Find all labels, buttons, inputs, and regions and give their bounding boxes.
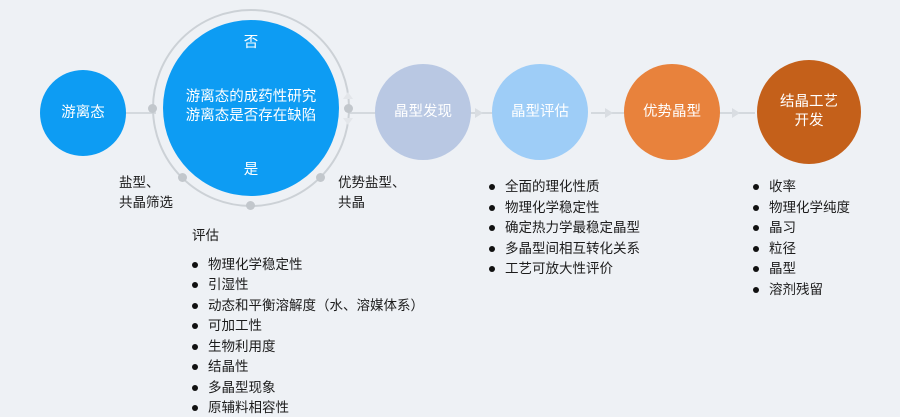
list-item: 确定热力学最稳定晶型 — [489, 218, 640, 239]
list-item: 生物利用度 — [192, 337, 424, 358]
list-item-label: 物理化学稳定性 — [505, 200, 600, 215]
list-item-label: 晶习 — [769, 220, 796, 235]
list-item: 结晶性 — [192, 357, 424, 378]
ring-handle-right[interactable] — [344, 104, 353, 113]
bullet-dot-icon — [753, 184, 759, 190]
ring-handle-bottom-left[interactable] — [178, 173, 187, 182]
list-item: 工艺可放大性评价 — [489, 259, 640, 280]
list-item: 晶习 — [753, 218, 850, 239]
list-item: 引湿性 — [192, 275, 424, 296]
bullet-dot-icon — [192, 303, 198, 309]
list-item-label: 生物利用度 — [208, 339, 276, 354]
node-free-form[interactable]: 游离态 — [40, 70, 126, 156]
list-item: 物理化学稳定性 — [489, 198, 640, 219]
list-item-label: 物理化学稳定性 — [208, 257, 303, 272]
node-free-form-label: 游离态 — [61, 104, 105, 123]
list-crystallization-process-items: 收率 物理化学纯度 晶习 粒径 晶型 溶剂残留 — [753, 177, 850, 300]
list-crystallization-process: 收率 物理化学纯度 晶习 粒径 晶型 溶剂残留 — [753, 177, 850, 300]
list-item-label: 物理化学纯度 — [769, 200, 850, 215]
connector-arrow-4-icon — [605, 108, 613, 118]
list-item: 粒径 — [753, 239, 850, 260]
list-item-label: 收率 — [769, 179, 796, 194]
node-crystal-form-discovery-label: 晶型发现 — [394, 103, 452, 122]
bullet-dot-icon — [489, 246, 495, 252]
node-preferred-crystal-form[interactable]: 优势晶型 — [624, 64, 720, 160]
node-druggability-study-label: 游离态的成药性研究 游离态是否存在缺陷 — [186, 88, 317, 125]
list-evaluation-title: 评估 — [192, 226, 424, 246]
list-item: 溶剂残留 — [753, 280, 850, 301]
list-item-label: 结晶性 — [208, 359, 249, 374]
bullet-dot-icon — [192, 344, 198, 350]
list-item-label: 全面的理化性质 — [505, 179, 600, 194]
list-item: 晶型 — [753, 259, 850, 280]
list-item-label: 工艺可放大性评价 — [505, 261, 613, 276]
connector-arrow-5-icon — [732, 108, 740, 118]
list-item: 收率 — [753, 177, 850, 198]
bullet-dot-icon — [192, 323, 198, 329]
list-item: 物理化学稳定性 — [192, 255, 424, 276]
node-crystal-form-evaluation[interactable]: 晶型评估 — [492, 64, 588, 160]
list-crystal-form-evaluation: 全面的理化性质 物理化学稳定性 确定热力学最稳定晶型 多晶型间相互转化关系 工艺… — [489, 177, 640, 280]
list-item-label: 原辅料相容性 — [208, 400, 289, 415]
list-item-label: 动态和平衡溶解度（水、溶媒体系） — [208, 298, 424, 313]
list-item-label: 粒径 — [769, 241, 796, 256]
bullet-dot-icon — [192, 282, 198, 288]
bullet-dot-icon — [753, 287, 759, 293]
node-preferred-crystal-form-label: 优势晶型 — [643, 103, 701, 122]
ring-caret-down-icon — [343, 118, 353, 125]
list-item-label: 溶剂残留 — [769, 282, 823, 297]
ring-handle-left[interactable] — [148, 104, 157, 113]
node-crystal-form-discovery[interactable]: 晶型发现 — [375, 64, 471, 160]
bullet-dot-icon — [753, 246, 759, 252]
bullet-dot-icon — [753, 205, 759, 211]
list-item: 多晶型现象 — [192, 378, 424, 399]
caption-preferred-salt-cocrystal: 优势盐型、 共晶 — [338, 173, 406, 212]
connector-arrow-3-icon — [475, 108, 483, 118]
list-item-label: 晶型 — [769, 261, 796, 276]
bullet-dot-icon — [489, 266, 495, 272]
list-item-label: 多晶型间相互转化关系 — [505, 241, 640, 256]
list-item-label: 引湿性 — [208, 277, 249, 292]
node-crystallization-process-development[interactable]: 结晶工艺 开发 — [757, 60, 861, 164]
list-item-label: 可加工性 — [208, 318, 262, 333]
list-item: 全面的理化性质 — [489, 177, 640, 198]
bullet-dot-icon — [192, 405, 198, 411]
branch-label-no: 否 — [244, 34, 259, 53]
list-item: 动态和平衡溶解度（水、溶媒体系） — [192, 296, 424, 317]
list-item: 可加工性 — [192, 316, 424, 337]
list-item: 多晶型间相互转化关系 — [489, 239, 640, 260]
list-crystal-form-evaluation-items: 全面的理化性质 物理化学稳定性 确定热力学最稳定晶型 多晶型间相互转化关系 工艺… — [489, 177, 640, 280]
bullet-dot-icon — [489, 184, 495, 190]
list-evaluation-items: 物理化学稳定性 引湿性 动态和平衡溶解度（水、溶媒体系） 可加工性 生物利用度 … — [192, 255, 424, 417]
node-crystal-form-evaluation-label: 晶型评估 — [511, 103, 569, 122]
bullet-dot-icon — [192, 364, 198, 370]
ring-handle-bottom-right[interactable] — [316, 173, 325, 182]
ring-handle-bottom[interactable] — [246, 201, 255, 210]
node-druggability-study[interactable]: 否 游离态的成药性研究 游离态是否存在缺陷 是 — [163, 20, 339, 196]
node-crystallization-process-development-label: 结晶工艺 开发 — [780, 93, 838, 130]
ring-caret-up-icon — [343, 92, 353, 99]
bullet-dot-icon — [489, 225, 495, 231]
bullet-dot-icon — [192, 385, 198, 391]
flow-diagram-canvas: 游离态 否 游离态的成药性研究 游离态是否存在缺陷 是 晶型发现 晶型评估 优势… — [0, 0, 900, 417]
bullet-dot-icon — [753, 225, 759, 231]
list-item: 原辅料相容性 — [192, 398, 424, 417]
caption-salt-cocrystal-screening: 盐型、 共晶筛选 — [119, 173, 173, 212]
list-item: 物理化学纯度 — [753, 198, 850, 219]
list-item-label: 多晶型现象 — [208, 380, 276, 395]
bullet-dot-icon — [753, 266, 759, 272]
bullet-dot-icon — [192, 262, 198, 268]
bullet-dot-icon — [489, 205, 495, 211]
list-evaluation: 评估 物理化学稳定性 引湿性 动态和平衡溶解度（水、溶媒体系） 可加工性 生物利… — [192, 226, 424, 417]
branch-label-yes: 是 — [244, 161, 259, 180]
list-item-label: 确定热力学最稳定晶型 — [505, 220, 640, 235]
